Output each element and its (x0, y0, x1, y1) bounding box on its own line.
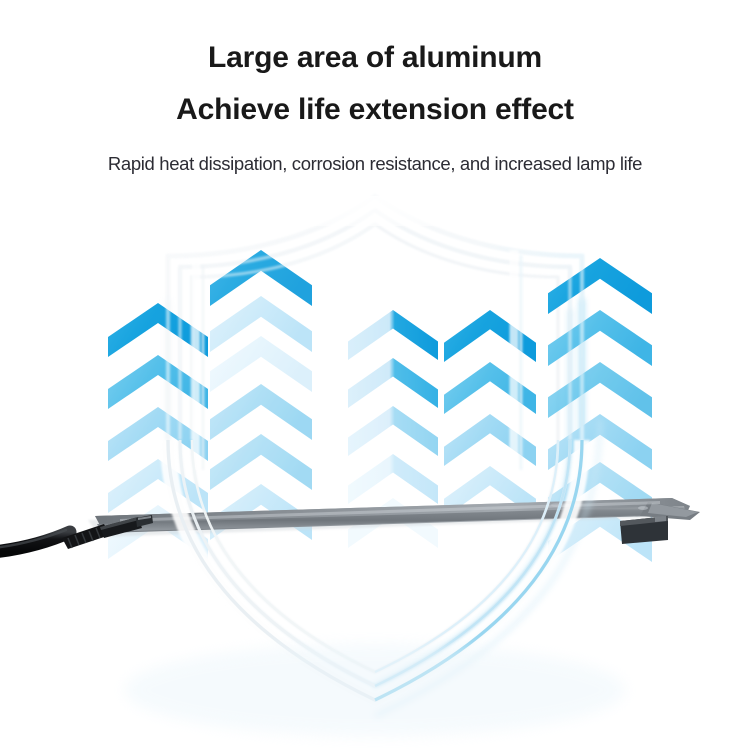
headline-line-1: Large area of aluminum (0, 0, 750, 73)
product-feature-banner: Large area of aluminum Achieve life exte… (0, 0, 750, 750)
headline-line-2: Achieve life extension effect (0, 73, 750, 125)
text-block: Large area of aluminum Achieve life exte… (0, 0, 750, 175)
subheadline: Rapid heat dissipation, corrosion resist… (0, 125, 750, 175)
cable-wire (0, 532, 70, 552)
strip-screw-3 (638, 506, 648, 510)
